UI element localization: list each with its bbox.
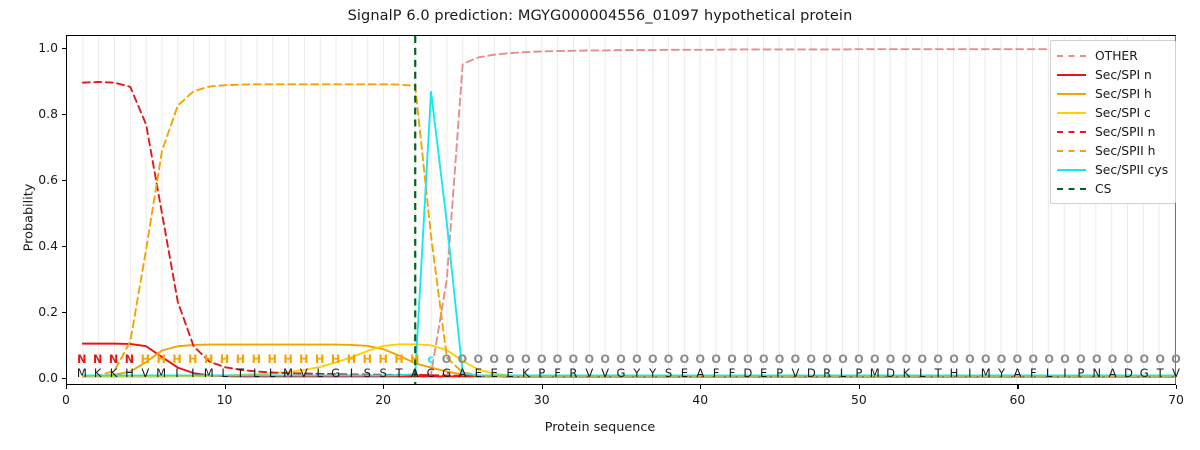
legend-swatch [1057, 183, 1086, 195]
residue-label: I [175, 367, 178, 380]
legend-label: Sec/SPII n [1095, 125, 1155, 139]
x-tick-mark [66, 385, 67, 389]
legend-item[interactable]: Sec/SPI h [1057, 84, 1168, 103]
region-label: O [521, 353, 531, 366]
region-label: O [442, 353, 452, 366]
region-label: O [933, 353, 943, 366]
legend-item[interactable]: CS [1057, 179, 1168, 198]
residue-label: P [776, 367, 783, 380]
region-label: O [1029, 353, 1039, 366]
x-tick-label: 10 [217, 392, 233, 407]
region-label: O [902, 353, 912, 366]
residue-label: F [1030, 367, 1037, 380]
region-label: O [918, 353, 928, 366]
x-axis-label: Protein sequence [0, 420, 1200, 435]
region-label: O [1155, 353, 1165, 366]
residue-label: A [1109, 367, 1117, 380]
residue-label: A [696, 367, 704, 380]
region-label: H [378, 353, 387, 366]
residue-label: M [870, 367, 880, 380]
region-label: O [664, 353, 674, 366]
region-label: O [585, 353, 595, 366]
plot-area [66, 35, 1176, 385]
x-tick-mark [700, 385, 701, 389]
region-label: O [838, 353, 848, 366]
region-label: H [315, 353, 324, 366]
region-label: O [489, 353, 499, 366]
region-label: H [363, 353, 372, 366]
y-axis-label-wrap: Probability [10, 35, 30, 385]
residue-label: G [617, 367, 626, 380]
region-label: O [680, 353, 690, 366]
region-label: H [172, 353, 181, 366]
legend-swatch [1057, 145, 1086, 157]
region-label: H [188, 353, 197, 366]
region-label: O [458, 353, 468, 366]
region-label: O [553, 353, 563, 366]
legend-swatch [1057, 107, 1086, 119]
residue-label: M [283, 367, 293, 380]
residue-label: P [855, 367, 862, 380]
residue-label: V [601, 367, 609, 380]
residue-label: T [935, 367, 942, 380]
series-line [83, 84, 1175, 376]
region-label: O [1060, 353, 1070, 366]
residue-label: A [458, 367, 466, 380]
residue-label: S [364, 367, 371, 380]
residue-label: T [395, 367, 402, 380]
residue-label: F [713, 367, 720, 380]
series-line [83, 345, 1175, 377]
residue-label: D [886, 367, 895, 380]
y-tick-label: 0.2 [18, 304, 58, 319]
region-label: O [1092, 353, 1102, 366]
region-label: c [427, 353, 434, 366]
region-label: H [252, 353, 261, 366]
region-label: O [696, 353, 706, 366]
chart-title: SignalP 6.0 prediction: MGYG000004556_01… [0, 8, 1200, 24]
residue-label: A [411, 367, 419, 380]
region-label: O [1171, 353, 1181, 366]
residue-label: V [791, 367, 799, 380]
residue-label: V [1172, 367, 1180, 380]
residue-label: E [490, 367, 497, 380]
residue-label: T [237, 367, 244, 380]
residue-label: D [743, 367, 752, 380]
x-tick-mark [383, 385, 384, 389]
x-tick-mark [542, 385, 543, 389]
x-tick-mark [859, 385, 860, 389]
region-label: H [204, 353, 213, 366]
legend-swatch [1057, 50, 1086, 62]
legend-label: CS [1095, 182, 1111, 196]
region-label: H [236, 353, 245, 366]
legend-item[interactable]: Sec/SPII cys [1057, 160, 1168, 179]
residue-label: S [665, 367, 672, 380]
legend-swatch [1057, 88, 1086, 100]
region-label: H [267, 353, 276, 366]
region-label: O [616, 353, 626, 366]
region-label: O [474, 353, 484, 366]
residue-label: G [1140, 367, 1149, 380]
y-tick-label: 0.6 [18, 172, 58, 187]
residue-label: Y [633, 367, 640, 380]
region-label: O [711, 353, 721, 366]
legend-label: Sec/SPI c [1095, 106, 1151, 120]
region-label: H [410, 353, 419, 366]
region-label: O [632, 353, 642, 366]
region-label: H [394, 353, 403, 366]
region-label: H [220, 353, 229, 366]
region-label: O [870, 353, 880, 366]
residue-label: E [760, 367, 767, 380]
y-tick-label: 0.4 [18, 238, 58, 253]
region-label: N [109, 353, 118, 366]
region-label: O [727, 353, 737, 366]
x-tick-label: 30 [534, 392, 550, 407]
residue-label: K [94, 367, 102, 380]
legend-item[interactable]: Sec/SPII h [1057, 141, 1168, 160]
region-label: H [347, 353, 356, 366]
residue-label: K [522, 367, 530, 380]
series-line [83, 82, 1175, 376]
region-label: O [1108, 353, 1118, 366]
residue-label: E [475, 367, 482, 380]
residue-label: L [269, 367, 275, 380]
residue-label: I [1063, 367, 1066, 380]
residue-label: K [110, 367, 118, 380]
legend-label: Sec/SPI n [1095, 68, 1152, 82]
x-tick-mark [1176, 385, 1177, 389]
region-label: O [822, 353, 832, 366]
series-line [83, 92, 1175, 376]
x-tick-label: 60 [1010, 392, 1026, 407]
region-label: O [1124, 353, 1134, 366]
residue-label: Y [649, 367, 656, 380]
y-tick-label: 1.0 [18, 40, 58, 55]
region-label: O [807, 353, 817, 366]
region-label: O [569, 353, 579, 366]
x-tick-label: 20 [375, 392, 391, 407]
region-label: O [965, 353, 975, 366]
region-label: O [775, 353, 785, 366]
legend: OTHERSec/SPI nSec/SPI hSec/SPI cSec/SPII… [1050, 40, 1176, 204]
signalp-prediction-figure: SignalP 6.0 prediction: MGYG000004556_01… [0, 0, 1200, 450]
residue-label: T [1157, 367, 1164, 380]
residue-label: C [427, 367, 435, 380]
residue-label: V [585, 367, 593, 380]
residue-label: K [903, 367, 911, 380]
region-label: O [1044, 353, 1054, 366]
residue-label: D [807, 367, 816, 380]
residue-label: I [350, 367, 353, 380]
residue-label: F [729, 367, 736, 380]
region-label: O [743, 353, 753, 366]
residue-label: D [1124, 367, 1133, 380]
residue-label: M [981, 367, 991, 380]
residue-label: V [141, 367, 149, 380]
region-label: O [981, 353, 991, 366]
x-tick-label: 50 [851, 392, 867, 407]
residue-label: G [442, 367, 451, 380]
legend-swatch [1057, 126, 1086, 138]
legend-item[interactable]: Sec/SPI n [1057, 65, 1168, 84]
region-label: O [854, 353, 864, 366]
residue-label: R [823, 367, 831, 380]
residue-label: F [554, 367, 561, 380]
legend-label: OTHER [1095, 49, 1138, 63]
residue-label: I [191, 367, 194, 380]
x-tick-mark [225, 385, 226, 389]
residue-label: E [681, 367, 688, 380]
residue-label: P [538, 367, 545, 380]
region-label: N [125, 353, 134, 366]
y-tick-label: 0.0 [18, 370, 58, 385]
region-label: N [77, 353, 86, 366]
x-tick-label: 40 [692, 392, 708, 407]
residue-label: M [156, 367, 166, 380]
region-label: O [537, 353, 547, 366]
legend-swatch [1057, 164, 1086, 176]
residue-label: L [316, 367, 322, 380]
region-label: O [759, 353, 769, 366]
series-line [83, 344, 1175, 377]
region-label: H [299, 353, 308, 366]
residue-label: L [840, 367, 846, 380]
residue-label: L [221, 367, 227, 380]
region-label: O [600, 353, 610, 366]
x-tick-label: 70 [1168, 392, 1184, 407]
x-tick-mark [1017, 385, 1018, 389]
x-tick-label: 0 [62, 392, 70, 407]
series-line [83, 49, 1175, 376]
legend-swatch [1057, 69, 1086, 81]
residue-label: G [331, 367, 340, 380]
residue-label: R [569, 367, 577, 380]
residue-label: S [379, 367, 386, 380]
legend-label: Sec/SPII cys [1095, 163, 1168, 177]
legend-label: Sec/SPI h [1095, 87, 1152, 101]
residue-label: H [125, 367, 134, 380]
region-label: H [156, 353, 165, 366]
legend-item[interactable]: OTHER [1057, 46, 1168, 65]
residue-label: Y [998, 367, 1005, 380]
residue-label: V [300, 367, 308, 380]
residue-label: E [506, 367, 513, 380]
residue-label: L [1046, 367, 1052, 380]
region-label: O [1013, 353, 1023, 366]
data-series-layer [67, 36, 1175, 384]
residue-label: L [253, 367, 259, 380]
region-label: O [505, 353, 515, 366]
region-label: O [1140, 353, 1150, 366]
region-label: H [283, 353, 292, 366]
residue-label: M [204, 367, 214, 380]
region-label: H [141, 353, 150, 366]
region-label: O [791, 353, 801, 366]
legend-label: Sec/SPII h [1095, 144, 1155, 158]
residue-label: H [950, 367, 959, 380]
region-label: O [997, 353, 1007, 366]
region-label: H [331, 353, 340, 366]
region-label: N [93, 353, 102, 366]
region-label: O [949, 353, 959, 366]
series-line [83, 344, 1175, 377]
legend-item[interactable]: Sec/SPI c [1057, 103, 1168, 122]
residue-label: N [1092, 367, 1101, 380]
region-label: O [886, 353, 896, 366]
residue-label: L [919, 367, 925, 380]
y-tick-label: 0.8 [18, 106, 58, 121]
region-label: O [648, 353, 658, 366]
residue-label: A [1013, 367, 1021, 380]
legend-item[interactable]: Sec/SPII n [1057, 122, 1168, 141]
residue-label: M [77, 367, 87, 380]
residue-label: P [1077, 367, 1084, 380]
residue-label: I [968, 367, 971, 380]
region-label: O [1076, 353, 1086, 366]
